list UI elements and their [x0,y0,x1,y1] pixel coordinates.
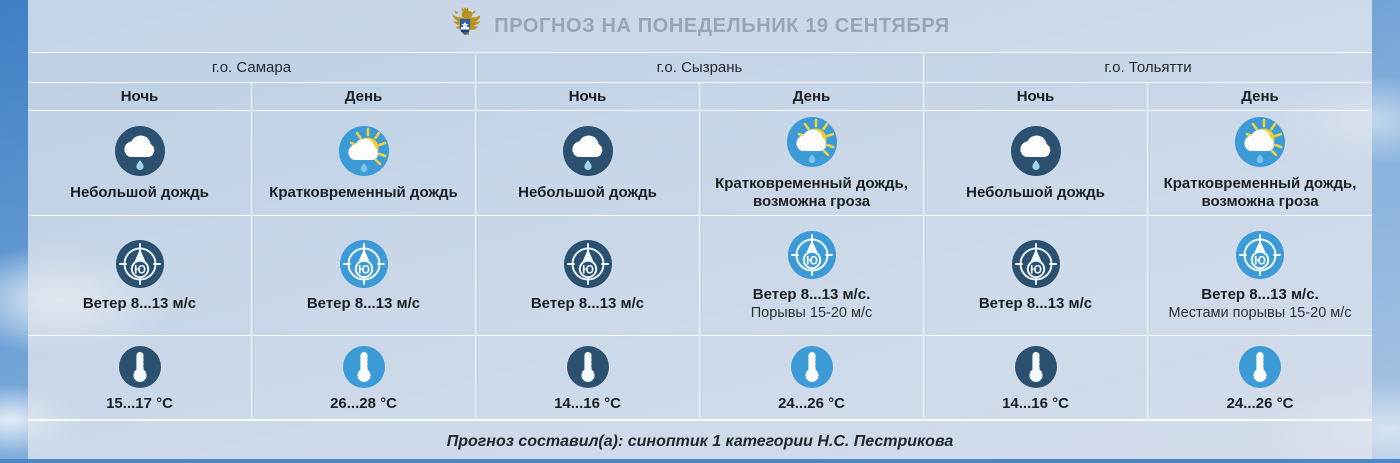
city-header-samara: г.о. Самара [28,53,476,83]
cloud-rain-night-icon [561,124,615,178]
temperature-text: 14...16 °C [1002,395,1069,412]
wind-speed-text: Ветер 8...13 м/с [83,295,196,313]
thermometer-day-icon [789,344,835,390]
temperature-cell-syzran-day: 24...26 °C [700,336,924,420]
part-header-samara-day: День [252,83,476,111]
russian-double-headed-eagle-emblem-icon [450,5,480,47]
condition-cell-tolyatti-day: Кратковременный дождь, возможна гроза [1148,111,1372,216]
part-header-syzran-night: Ночь [476,83,700,111]
condition-cell-samara-night: Небольшой дождь [28,111,252,216]
part-header-samara-night: Ночь [28,83,252,111]
condition-text: Небольшой дождь [966,184,1105,202]
wind-cell-tolyatti-day: Ю Ветер 8...13 м/с. Местами порывы 15-20… [1148,216,1372,336]
svg-text:Ю: Ю [358,264,370,276]
compass-south-day-icon: Ю [786,229,838,281]
thermometer-night-icon [565,344,611,390]
city-header-tolyatti: г.о. Тольятти [924,53,1372,83]
condition-cell-syzran-day: Кратковременный дождь, возможна гроза [700,111,924,216]
compass-south-day-icon: Ю [1234,229,1286,281]
temperature-cell-syzran-night: 14...16 °C [476,336,700,420]
compass-south-day-icon: Ю [338,238,390,290]
condition-text: Кратковременный дождь [269,184,458,202]
thermometer-day-icon [341,344,387,390]
svg-text:Ю: Ю [582,264,594,276]
condition-text: Кратковременный дождь, возможна гроза [706,175,917,212]
part-header-tolyatti-day: День [1148,83,1372,111]
temperature-text: 24...26 °C [1227,395,1294,412]
city-header-syzran: г.о. Сызрань [476,53,924,83]
wind-speed-text: Ветер 8...13 м/с [979,295,1092,313]
temperature-text: 14...16 °C [554,395,621,412]
wind-speed-text: Ветер 8...13 м/с. [753,286,870,304]
wind-speed-text: Ветер 8...13 м/с [307,295,420,313]
forecast-grid: г.о. Самара г.о. Сызрань г.о. Тольятти Н… [28,53,1372,420]
thermometer-night-icon [117,344,163,390]
wind-gust-text: Порывы 15-20 м/с [751,305,873,323]
temperature-cell-tolyatti-day: 24...26 °C [1148,336,1372,420]
compass-south-night-icon: Ю [1010,238,1062,290]
condition-cell-tolyatti-night: Небольшой дождь [924,111,1148,216]
svg-text:Ю: Ю [1030,264,1042,276]
sun-cloud-rain-day-icon [1233,115,1287,169]
wind-cell-syzran-day: Ю Ветер 8...13 м/с. Порывы 15-20 м/с [700,216,924,336]
part-header-syzran-day: День [700,83,924,111]
condition-text: Небольшой дождь [518,184,657,202]
temperature-cell-samara-day: 26...28 °C [252,336,476,420]
forecast-panel: ПРОГНОЗ НА ПОНЕДЕЛЬНИК 19 СЕНТЯБРЯ г.о. … [28,0,1372,459]
page-title: ПРОГНОЗ НА ПОНЕДЕЛЬНИК 19 СЕНТЯБРЯ [494,15,950,38]
wind-speed-text: Ветер 8...13 м/с. [1201,286,1318,304]
thermometer-day-icon [1237,344,1283,390]
sun-cloud-rain-day-icon [337,124,391,178]
temperature-text: 15...17 °C [106,395,173,412]
wind-cell-samara-night: Ю Ветер 8...13 м/с [28,216,252,336]
svg-text:Ю: Ю [1254,255,1266,267]
condition-cell-samara-day: Кратковременный дождь [252,111,476,216]
forecast-header: ПРОГНОЗ НА ПОНЕДЕЛЬНИК 19 СЕНТЯБРЯ [28,0,1372,53]
forecaster-credit: Прогноз составил(а): синоптик 1 категори… [447,433,954,451]
svg-text:Ю: Ю [134,264,146,276]
wind-gust-text: Местами порывы 15-20 м/с [1168,305,1351,323]
forecast-footer: Прогноз составил(а): синоптик 1 категори… [28,420,1372,463]
wind-cell-syzran-night: Ю Ветер 8...13 м/с [476,216,700,336]
temperature-text: 26...28 °C [330,395,397,412]
wind-cell-samara-day: Ю Ветер 8...13 м/с [252,216,476,336]
cloud-rain-night-icon [1009,124,1063,178]
compass-south-night-icon: Ю [114,238,166,290]
thermometer-night-icon [1013,344,1059,390]
temperature-cell-tolyatti-night: 14...16 °C [924,336,1148,420]
sun-cloud-rain-day-icon [785,115,839,169]
cloud-rain-night-icon [113,124,167,178]
temperature-text: 24...26 °C [778,395,845,412]
wind-speed-text: Ветер 8...13 м/с [531,295,644,313]
svg-text:Ю: Ю [806,255,818,267]
condition-text: Кратковременный дождь, возможна гроза [1154,175,1366,212]
condition-text: Небольшой дождь [70,184,209,202]
part-header-tolyatti-night: Ночь [924,83,1148,111]
wind-cell-tolyatti-night: Ю Ветер 8...13 м/с [924,216,1148,336]
compass-south-night-icon: Ю [562,238,614,290]
condition-cell-syzran-night: Небольшой дождь [476,111,700,216]
temperature-cell-samara-night: 15...17 °C [28,336,252,420]
